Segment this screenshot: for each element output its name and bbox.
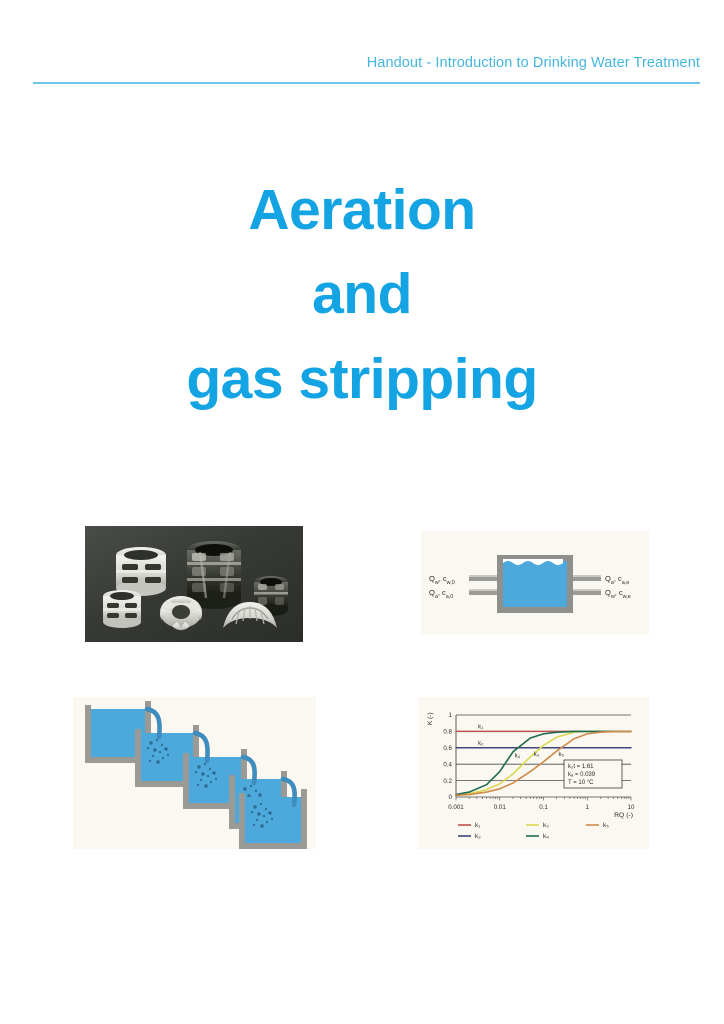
page-header: Handout - Introduction to Drinking Water… — [0, 55, 724, 95]
header-divider — [33, 82, 700, 84]
svg-text:k₂: k₂ — [478, 741, 484, 747]
header-title: Handout - Introduction to Drinking Water… — [367, 55, 700, 71]
svg-text:k₅: k₅ — [558, 752, 564, 758]
svg-text:0.6: 0.6 — [443, 745, 452, 752]
svg-text:k₃: k₃ — [543, 822, 549, 829]
svg-text:0.1: 0.1 — [539, 804, 548, 811]
chart-annotation-box: k₂t = 1.61 kₐ = 0.039 T = 10 °C — [564, 760, 622, 788]
svg-text:10: 10 — [628, 804, 635, 811]
svg-text:k₁: k₁ — [478, 724, 483, 730]
svg-text:k₃: k₃ — [534, 752, 540, 758]
svg-text:kₐ = 0.039: kₐ = 0.039 — [568, 772, 596, 778]
page-title-line-3: gas stripping — [0, 337, 724, 421]
efficiency-chart: 00.20.40.60.81 0.0010.010.1110 k₁k₂k₄k₃k… — [418, 697, 649, 849]
svg-text:0.4: 0.4 — [443, 761, 452, 768]
chart-x-axis-label: RQ (-) — [614, 812, 633, 819]
cascade-diagram — [73, 697, 316, 849]
svg-text:T = 10 °C: T = 10 °C — [568, 780, 594, 786]
svg-text:0.01: 0.01 — [494, 804, 507, 811]
svg-text:1: 1 — [586, 804, 590, 811]
svg-text:0.001: 0.001 — [448, 804, 464, 811]
svg-text:k₁: k₁ — [475, 822, 480, 829]
page-title: Aeration and gas stripping — [0, 168, 724, 421]
figure-packing-media-photo — [80, 520, 308, 648]
figure-tank-mass-balance: Qw, cw,0 Qa, ca,0 Qa, ca,e Qw, cw,e — [421, 531, 649, 635]
page-title-line-2: and — [0, 252, 724, 336]
svg-text:1: 1 — [449, 712, 453, 719]
packing-media-photo — [80, 520, 308, 648]
svg-text:k₂t = 1.61: k₂t = 1.61 — [568, 764, 594, 770]
figure-efficiency-chart: 00.20.40.60.81 0.0010.010.1110 k₁k₂k₄k₃k… — [418, 697, 649, 849]
figure-cascade-aeration — [73, 697, 316, 849]
chart-y-axis-label: K (-) — [427, 712, 434, 725]
svg-text:0.2: 0.2 — [443, 778, 452, 785]
page-title-line-1: Aeration — [0, 168, 724, 252]
tank-diagram: Qw, cw,0 Qa, ca,0 Qa, ca,e Qw, cw,e — [421, 531, 649, 635]
svg-text:k₄: k₄ — [543, 833, 549, 840]
svg-text:k₄: k₄ — [515, 754, 521, 760]
svg-text:k₅: k₅ — [603, 822, 609, 829]
svg-text:0.8: 0.8 — [443, 729, 452, 736]
svg-text:k₂: k₂ — [475, 833, 481, 840]
tank-vessel — [497, 555, 573, 613]
svg-text:0: 0 — [449, 794, 453, 801]
